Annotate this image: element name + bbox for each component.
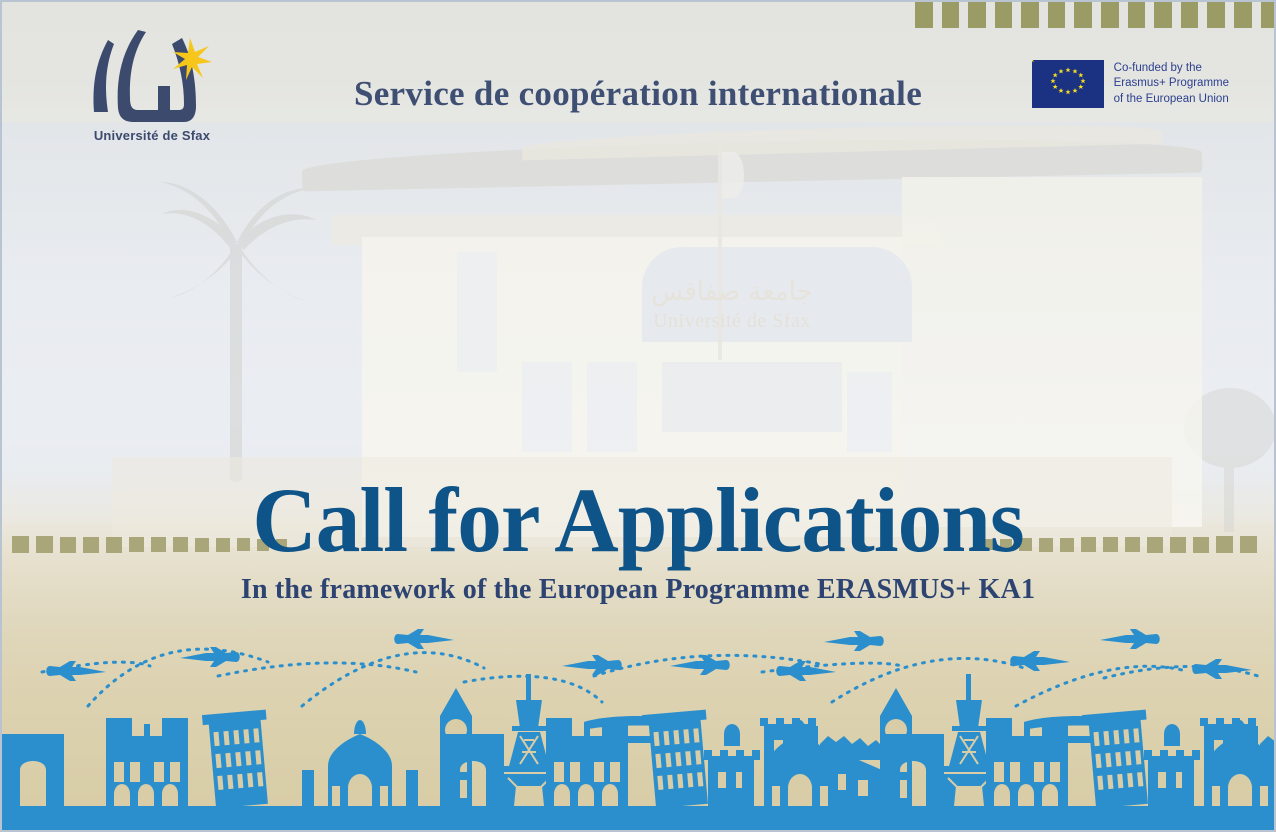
eu-funding-line-3: of the European Union (1114, 92, 1229, 107)
world-skyline (2, 674, 1276, 809)
ground-bar (2, 806, 1276, 832)
travel-illustration (2, 614, 1276, 832)
building-window (847, 372, 892, 452)
eu-flag-icon (1032, 60, 1104, 108)
dash-mark (1101, 2, 1119, 28)
dash-mark (942, 2, 960, 28)
building-window (522, 362, 572, 452)
dash-mark (1234, 2, 1252, 28)
eu-funding-line-2: Erasmus+ Programme (1114, 76, 1229, 91)
logo-caption: Université de Sfax (62, 128, 242, 143)
dash-mark (1154, 2, 1172, 28)
building-window (587, 362, 637, 452)
eu-funding-line-1: Co-funded by the (1114, 61, 1229, 76)
dash-mark (1128, 2, 1146, 28)
poster-canvas: جامعة صفاقس Université de Sfax Universit… (0, 0, 1276, 832)
dash-mark (995, 2, 1013, 28)
palm-tree (152, 152, 322, 482)
dash-mark (1074, 2, 1092, 28)
building-latin-name: Université de Sfax (602, 310, 862, 333)
building-glass-lower (662, 362, 842, 432)
building-arabic-name: جامعة صفاقس (622, 277, 842, 307)
flag (722, 152, 744, 198)
dash-mark (1207, 2, 1225, 28)
top-dash-band (915, 2, 1276, 28)
dash-mark (968, 2, 986, 28)
building-window (457, 252, 497, 372)
dash-mark (1261, 2, 1276, 28)
dash-mark (1021, 2, 1039, 28)
main-heading: Call for Applications (21, 474, 1255, 566)
sub-heading: In the framework of the European Program… (2, 574, 1274, 606)
dash-mark (1048, 2, 1066, 28)
dash-mark (1181, 2, 1199, 28)
dash-mark (915, 2, 933, 28)
eu-funding-badge: Co-funded by the Erasmus+ Programme of t… (1032, 60, 1229, 108)
eu-funding-text: Co-funded by the Erasmus+ Programme of t… (1114, 61, 1229, 107)
